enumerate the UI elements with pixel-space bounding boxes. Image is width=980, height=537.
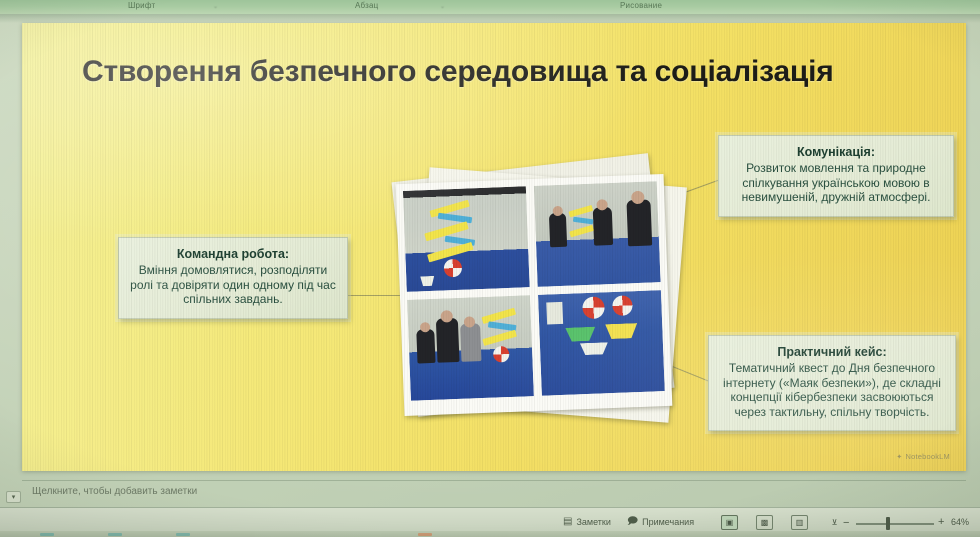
card-practical-case-heading: Практичний кейс: [720,345,944,360]
taskbar-icon-1[interactable] [40,533,54,536]
collage-sheet-front[interactable] [396,174,673,416]
card-communication-heading: Комунікація: [730,145,942,160]
notes-collapse-icon[interactable]: ▾ [6,491,21,503]
photographed-screen: Шрифт ⌄ Абзац ⌄ Рисование Створення безп… [0,0,980,537]
view-slideshow-button[interactable]: ⊻ [826,515,843,530]
zoom-level-label[interactable]: 64% [951,517,969,527]
slide-canvas[interactable]: Створення безпечного середовища та соціа… [22,23,966,471]
notes-icon: ▤ [563,517,572,527]
ribbon-group-drawing: Рисование [620,1,662,10]
photo-collage[interactable] [390,161,686,425]
ribbon-group-font: Шрифт [128,1,155,10]
ribbon-strip: Шрифт ⌄ Абзац ⌄ Рисование [0,0,980,14]
notes-separator [22,480,966,481]
slide-title[interactable]: Створення безпечного середовища та соціа… [82,55,912,89]
zoom-slider-track[interactable] [856,523,934,525]
card-team-work[interactable]: Командна робота: Вміння домовлятися, роз… [118,237,348,319]
notes-placeholder[interactable]: Щелкните, чтобы добавить заметки [32,486,197,497]
card-practical-case[interactable]: Практичний кейс: Тематичний квест до Дня… [708,335,956,431]
ribbon-shadow [0,14,980,23]
zoom-slider-thumb[interactable] [886,517,890,530]
status-notes-label: Заметки [576,517,610,527]
card-team-work-heading: Командна робота: [130,247,336,262]
card-team-work-body: Вміння домовлятися, розподіляти ролі та … [130,263,336,307]
zoom-out-button[interactable]: − [843,518,849,529]
ribbon-group-paragraph: Абзац [355,1,378,10]
zoom-in-button[interactable]: + [938,517,944,528]
photo-classroom-paper-mobile [401,184,532,294]
view-normal-button[interactable]: ▣ [721,515,738,530]
view-slide-sorter-button[interactable]: ▩ [756,515,773,530]
taskbar-icon-2[interactable] [108,533,122,536]
card-practical-case-body: Тематичний квест до Дня безпечного інтер… [720,361,944,419]
status-notes-button[interactable]: ▤ Заметки [563,517,611,527]
taskbar-icon-3[interactable] [176,533,190,536]
card-communication-body: Розвиток мовлення та природне спілкуванн… [730,161,942,205]
taskbar-icon-4[interactable] [418,533,432,536]
font-dialog-launcher-icon[interactable]: ⌄ [213,3,218,10]
sparkle-icon: ✦ [896,453,902,461]
view-reading-button[interactable]: ▥ [791,515,808,530]
watermark-label: NotebookLM [905,452,950,461]
taskbar-sliver [0,531,980,537]
notes-pane[interactable]: ▾ Щелкните, чтобы добавить заметки [22,484,966,508]
paragraph-dialog-launcher-icon[interactable]: ⌄ [440,3,445,10]
notebooklm-watermark: ✦ NotebookLM [896,452,950,461]
status-comments-label: Примечания [642,517,694,527]
status-comments-button[interactable]: 🗩 Примечания [627,517,694,527]
card-communication[interactable]: Комунікація: Розвиток мовлення та природ… [718,135,954,217]
photo-students-in-corridor [532,179,663,289]
photo-paper-boats-on-blue-table [536,288,667,398]
comment-icon: 🗩 [627,517,638,527]
photo-students-group-with-craft [405,293,536,403]
photo-paper-lifebuoy-craft [409,402,536,411]
